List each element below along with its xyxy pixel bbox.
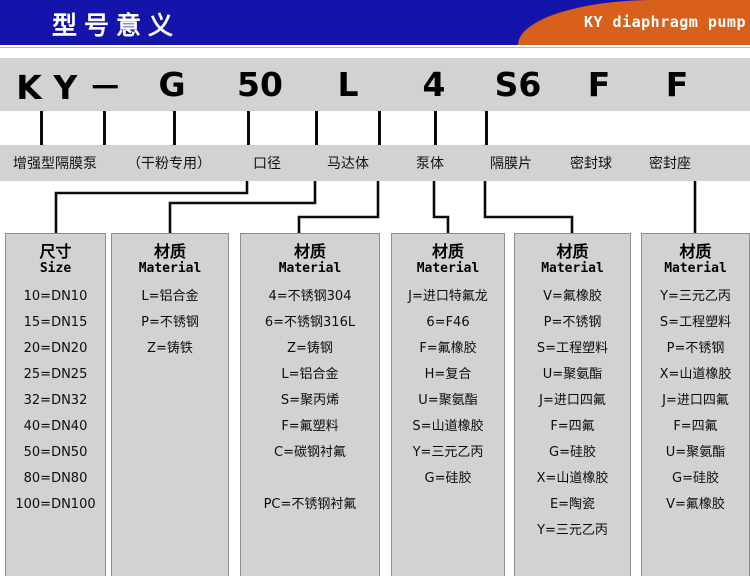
list-item: F=氟橡胶: [398, 342, 498, 355]
tick-line-7: [485, 111, 488, 145]
list-item: L=铝合金: [247, 368, 373, 381]
column-item-list-4: V=氟橡胶P=不锈钢S=工程塑料U=聚氨酯J=进口四氟F=四氟G=硅胶X=山道橡…: [515, 290, 630, 537]
model-code-row: K Y －G50L4S6FF: [0, 58, 750, 111]
material-column-0: 尺寸Size10=DN1015=DN1520=DN2025=DN2532=DN3…: [5, 233, 106, 576]
list-item: S=聚丙烯: [247, 394, 373, 407]
list-item: F=四氟: [521, 420, 624, 433]
list-item: F=氟塑料: [247, 420, 373, 433]
column-header-1: 材质Material: [112, 234, 228, 278]
column-item-list-2: 4=不锈钢3046=不锈钢316LZ=铸钢L=铝合金S=聚丙烯F=氟塑料C=碳钢…: [241, 290, 379, 511]
page-title: 型号意义: [52, 6, 180, 42]
list-item: 32=DN32: [12, 394, 99, 407]
column-title-cn-0: 尺寸: [6, 243, 105, 261]
column-title-cn-4: 材质: [515, 243, 630, 261]
list-item: J=进口四氟: [521, 394, 624, 407]
list-item: 10=DN10: [12, 290, 99, 303]
header-divider: [0, 47, 750, 48]
list-item: 80=DN80: [12, 472, 99, 485]
column-header-2: 材质Material: [241, 234, 379, 278]
column-item-list-1: L=铝合金P=不锈钢Z=铸铁: [112, 290, 228, 355]
model-part-label-3: 马达体: [306, 145, 390, 181]
list-item: H=复合: [398, 368, 498, 381]
list-item: G=硅胶: [521, 446, 624, 459]
column-item-list-5: Y=三元乙丙S=工程塑料P=不锈钢X=山道橡胶J=进口四氟F=四氟U=聚氨酯G=…: [642, 290, 749, 511]
connector-path-1: [170, 181, 315, 233]
column-item-list-0: 10=DN1015=DN1520=DN2025=DN2532=DN3240=DN…: [6, 290, 105, 511]
column-title-en-2: Material: [241, 261, 379, 278]
model-label-row: 增强型隔膜泵（干粉专用）口径马达体泵体隔膜片密封球密封座: [0, 145, 750, 181]
list-item: P=不锈钢: [521, 316, 624, 329]
list-item: P=不锈钢: [118, 316, 222, 329]
tick-line-6: [434, 111, 437, 145]
column-title-en-1: Material: [112, 261, 228, 278]
material-column-5: 材质MaterialY=三元乙丙S=工程塑料P=不锈钢X=山道橡胶J=进口四氟F…: [641, 233, 750, 576]
connector-path-3: [434, 181, 448, 233]
list-item: S=工程塑料: [648, 316, 743, 329]
column-title-en-0: Size: [6, 261, 105, 278]
model-part-label-7: 密封座: [630, 145, 710, 181]
model-part-label-1: （干粉专用）: [110, 145, 228, 181]
tick-line-5: [378, 111, 381, 145]
tick-line-4: [315, 111, 318, 145]
list-item: G=硅胶: [648, 472, 743, 485]
model-code-segment-0: K Y －: [10, 58, 128, 111]
model-part-label-0: 增强型隔膜泵: [0, 145, 110, 181]
column-title-cn-3: 材质: [392, 243, 504, 261]
list-item: 50=DN50: [12, 446, 99, 459]
list-item: Y=三元乙丙: [398, 446, 498, 459]
model-part-label-4: 泵体: [390, 145, 470, 181]
list-item: 20=DN20: [12, 342, 99, 355]
list-item: Z=铸铁: [118, 342, 222, 355]
list-item: L=铝合金: [118, 290, 222, 303]
connector-path-0: [56, 181, 247, 233]
column-title-cn-5: 材质: [642, 243, 749, 261]
list-item: U=聚氨酯: [648, 446, 743, 459]
list-item: C=碳钢衬氟: [247, 446, 373, 459]
connector-path-2: [299, 181, 378, 233]
model-code-segment-5: S6: [476, 58, 560, 111]
tick-line-3: [247, 111, 250, 145]
list-item: Y=三元乙丙: [648, 290, 743, 303]
list-item: E=陶瓷: [521, 498, 624, 511]
model-code-segment-7: F: [638, 58, 716, 111]
column-title-cn-2: 材质: [241, 243, 379, 261]
list-item: 100=DN100: [12, 498, 99, 511]
model-code-segment-6: F: [560, 58, 638, 111]
header-subtitle: KY diaphragm pump: [584, 13, 746, 31]
list-item: F=四氟: [648, 420, 743, 433]
column-title-en-4: Material: [515, 261, 630, 278]
list-item: Y=三元乙丙: [521, 524, 624, 537]
model-part-label-2: 口径: [228, 145, 306, 181]
tick-line-2: [173, 111, 176, 145]
list-item: S=工程塑料: [521, 342, 624, 355]
column-header-5: 材质Material: [642, 234, 749, 278]
list-item: 25=DN25: [12, 368, 99, 381]
column-title-en-5: Material: [642, 261, 749, 278]
list-item: 4=不锈钢304: [247, 290, 373, 303]
list-item: X=山道橡胶: [648, 368, 743, 381]
material-column-3: 材质MaterialJ=进口特氟龙6=F46F=氟橡胶H=复合U=聚氨酯S=山道…: [391, 233, 505, 576]
tick-line-0: [40, 111, 43, 145]
column-title-en-3: Material: [392, 261, 504, 278]
column-header-4: 材质Material: [515, 234, 630, 278]
list-item: U=聚氨酯: [521, 368, 624, 381]
column-item-list-3: J=进口特氟龙6=F46F=氟橡胶H=复合U=聚氨酯S=山道橡胶Y=三元乙丙G=…: [392, 290, 504, 485]
model-part-label-5: 隔膜片: [470, 145, 552, 181]
material-column-4: 材质MaterialV=氟橡胶P=不锈钢S=工程塑料U=聚氨酯J=进口四氟F=四…: [514, 233, 631, 576]
page-header: 型号意义 KY diaphragm pump: [0, 0, 750, 45]
list-item: J=进口特氟龙: [398, 290, 498, 303]
model-code-segment-3: L: [304, 58, 392, 111]
list-item: 6=不锈钢316L: [247, 316, 373, 329]
list-item: 40=DN40: [12, 420, 99, 433]
list-item: X=山道橡胶: [521, 472, 624, 485]
list-item: P=不锈钢: [648, 342, 743, 355]
tick-line-1: [103, 111, 106, 145]
list-item: U=聚氨酯: [398, 394, 498, 407]
list-item: V=氟橡胶: [648, 498, 743, 511]
list-item: 6=F46: [398, 316, 498, 329]
connector-path-4: [485, 181, 572, 233]
list-item: G=硅胶: [398, 472, 498, 485]
column-title-cn-1: 材质: [112, 243, 228, 261]
material-column-1: 材质MaterialL=铝合金P=不锈钢Z=铸铁: [111, 233, 229, 576]
connector-lines: [0, 181, 750, 233]
material-column-2: 材质Material4=不锈钢3046=不锈钢316LZ=铸钢L=铝合金S=聚丙…: [240, 233, 380, 576]
list-item: V=氟橡胶: [521, 290, 624, 303]
list-item: S=山道橡胶: [398, 420, 498, 433]
model-code-segment-1: G: [128, 58, 216, 111]
list-item: 15=DN15: [12, 316, 99, 329]
column-header-0: 尺寸Size: [6, 234, 105, 278]
column-header-3: 材质Material: [392, 234, 504, 278]
model-part-label-6: 密封球: [552, 145, 630, 181]
list-item: J=进口四氟: [648, 394, 743, 407]
model-code-segment-2: 50: [216, 58, 304, 111]
model-code-segment-4: 4: [392, 58, 476, 111]
list-item: Z=铸钢: [247, 342, 373, 355]
list-item: PC=不锈钢衬氟: [247, 498, 373, 511]
